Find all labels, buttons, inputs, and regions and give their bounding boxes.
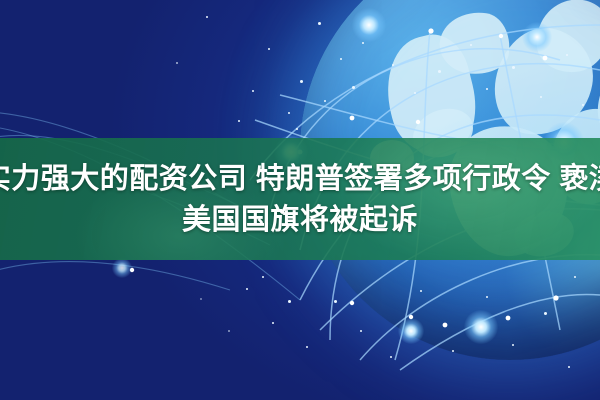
headline-line-1: 实力强大的配资公司 特朗普签署多项行政令 亵渎 <box>0 161 600 198</box>
news-banner-image: 实力强大的配资公司 特朗普签署多项行政令 亵渎 美国国旗将被起诉 <box>0 0 600 400</box>
headline-block: 实力强大的配资公司 特朗普签署多项行政令 亵渎 美国国旗将被起诉 <box>0 0 600 400</box>
headline-line-2: 美国国旗将被起诉 <box>182 202 418 239</box>
